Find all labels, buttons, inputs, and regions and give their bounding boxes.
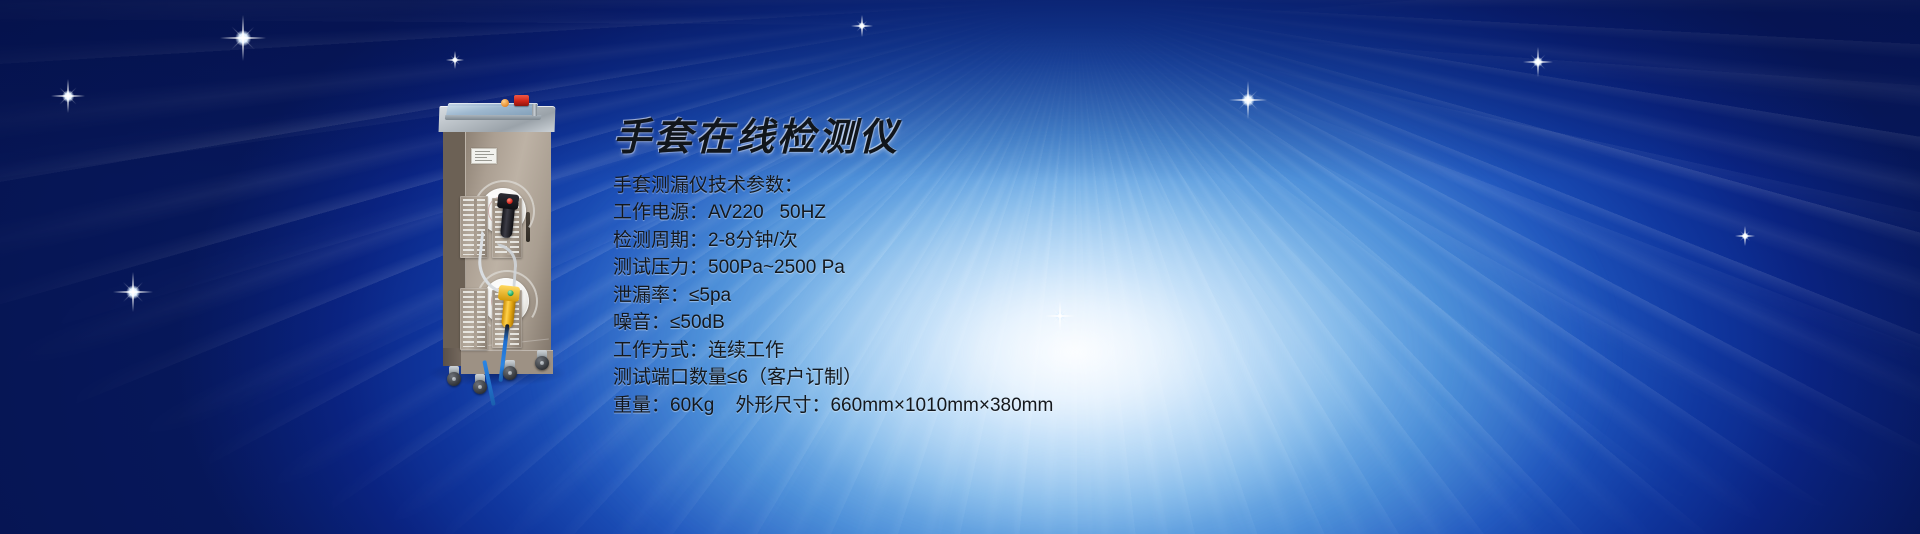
product-banner: 1 2 手套在线检测仪 手套测漏仪技术参数： 工作电源：A [0,0,1920,534]
spec-line: 工作方式：连续工作 [613,337,1313,365]
machine-lid-edge [445,115,542,120]
vent-panel-lower-left [460,288,488,350]
control-knob[interactable] [532,104,537,116]
spec-line: 重量：60Kg 外形尺寸：660mm×1010mm×380mm [613,392,1313,420]
product-title: 手套在线检测仪 [613,118,1313,160]
spec-line: 测试压力：500Pa~2500 Pa [613,254,1313,282]
indicator-lamp-icon [501,99,509,107]
text-content: 手套在线检测仪 手套测漏仪技术参数： 工作电源：AV220 50HZ检测周期：2… [613,118,1313,419]
spec-line: 噪音：≤50dB [613,309,1313,337]
emergency-stop-button[interactable] [514,95,529,106]
spec-line: 测试端口数量≤6（客户订制） [613,364,1313,392]
spec-line: 泄漏率：≤5pa [613,282,1313,310]
spec-line: 检测周期：2-8分钟/次 [613,227,1313,255]
specs-heading: 手套测漏仪技术参数： [613,172,1313,200]
specification-list: 手套测漏仪技术参数： 工作电源：AV220 50HZ检测周期：2-8分钟/次测试… [613,172,1313,420]
spec-line: 工作电源：AV220 50HZ [613,199,1313,227]
machine-spec-label [471,148,497,164]
product-image-glove-leak-tester: 1 2 [425,92,570,392]
